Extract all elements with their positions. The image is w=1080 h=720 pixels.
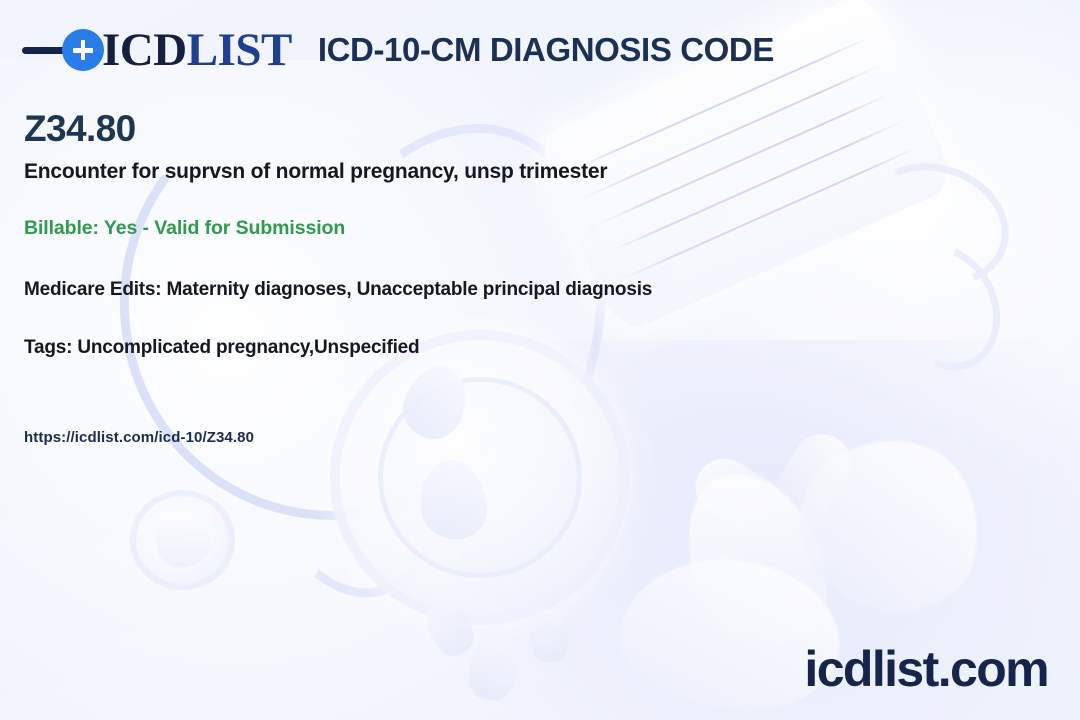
billable-status-badge: Billable: Yes - Valid for Submission [24,217,1034,240]
logo-wordmark: ICDLIST [102,27,292,74]
gloved-hand-shape [782,421,998,629]
logo-text-list: LIST [187,24,292,76]
pill-shape [420,594,481,662]
stethoscope-eartip [415,456,491,544]
icdlist-logo[interactable]: ICDLIST [22,22,292,78]
diagnosis-description: Encounter for suprvsn of normal pregnanc… [24,158,1034,185]
page-canvas: ICDLIST ICD-10-CM DIAGNOSIS CODE Z34.80 … [0,0,1080,720]
pill-shape [464,636,521,704]
pill-shape [527,608,572,665]
source-url[interactable]: https://icdlist.com/icd-10/Z34.80 [24,429,1034,446]
plus-icon [62,29,104,71]
medicare-edits-row: Medicare Edits: Maternity diagnoses, Una… [24,277,1034,303]
site-watermark: icdlist.com [804,644,1048,694]
diagnosis-code: Z34.80 [24,108,1034,149]
heart-shape-icon [688,443,821,576]
code-details-panel: Z34.80 Encounter for suprvsn of normal p… [24,108,1034,446]
page-header: ICDLIST ICD-10-CM DIAGNOSIS CODE [0,0,1080,100]
dash-icon [22,47,67,54]
logo-text-icd: ICD [102,24,187,76]
gloved-hand-shape [661,452,849,668]
page-title: ICD-10-CM DIAGNOSIS CODE [318,31,774,69]
tags-row: Tags: Uncomplicated pregnancy,Unspecifie… [24,335,1034,361]
stethoscope-bell-icon [130,490,235,590]
